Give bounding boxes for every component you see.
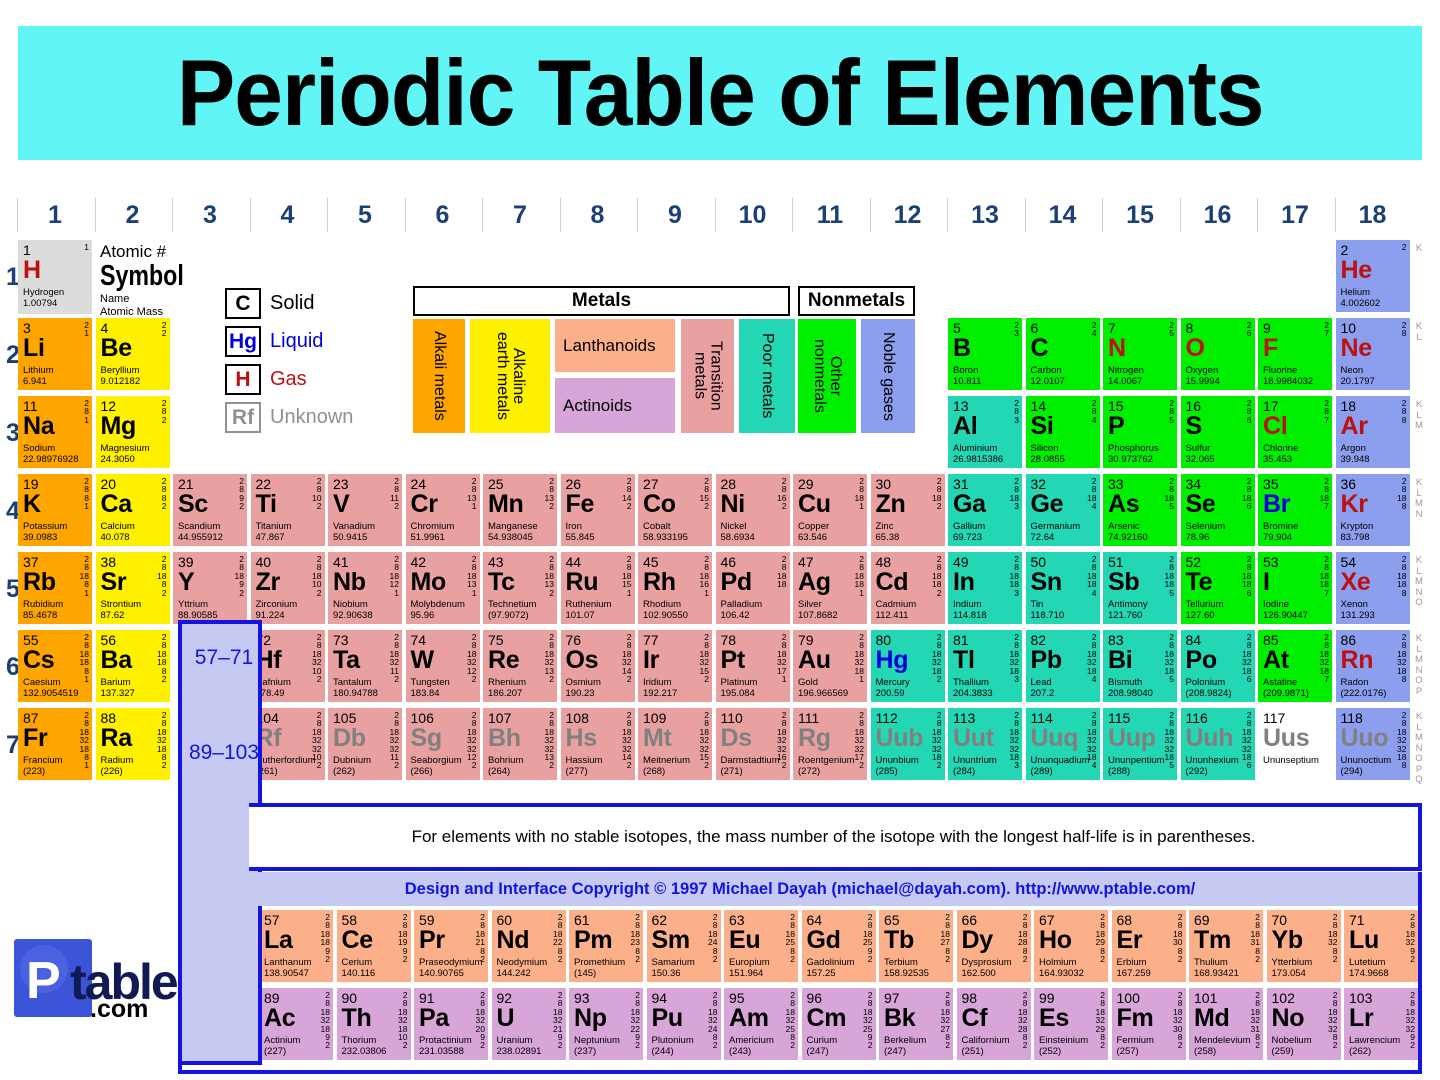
electron-shells: 2818321882 (157, 711, 166, 770)
element-name: Tin (1031, 599, 1096, 610)
element-cell-eu[interactable]: 63EuEuropium151.96428182582 (724, 910, 798, 982)
element-name: Praseodymium (419, 957, 484, 968)
element-name: Meitnerium (643, 755, 708, 766)
atomic-mass: 138.90547 (264, 968, 329, 979)
element-name: Californium (962, 1035, 1027, 1046)
element-cell-uuq[interactable]: 114UuqUnunquadium(289)28183232184 (1026, 708, 1100, 780)
atomic-mass: (284) (953, 766, 1018, 777)
electron-shells: 2818322592 (863, 991, 872, 1050)
legend-alkali-metals[interactable]: Alkali metals (413, 319, 465, 433)
atomic-mass: 51.9961 (411, 532, 476, 543)
element-symbol: Uus (1263, 726, 1328, 751)
electron-shells: 2818184 (1087, 555, 1096, 597)
atomic-number: 54 (1341, 555, 1406, 569)
element-name: Magnesium (101, 443, 166, 454)
atomic-number: 104 (256, 711, 321, 725)
atomic-mass: 32.065 (1186, 454, 1251, 465)
atomic-mass: (262) (333, 766, 398, 777)
atomic-number: 74 (411, 633, 476, 647)
electron-shells: 2818322982 (1096, 991, 1105, 1050)
atomic-number: 116 (1186, 711, 1251, 725)
element-cell-ge[interactable]: 32GeGermanium72.6428184 (1026, 474, 1100, 546)
element-cell-tm[interactable]: 69TmThulium168.9342128183182 (1189, 910, 1263, 982)
electron-shells: 281882 (157, 555, 166, 597)
element-cell-cs[interactable]: 55CsCaesium132.905451928181881 (18, 630, 92, 702)
atomic-number: 35 (1263, 477, 1328, 491)
electron-shells: 28183218102 (398, 991, 407, 1050)
atomic-mass: 118.710 (1031, 610, 1096, 621)
atomic-mass: 144.242 (497, 968, 562, 979)
atomic-number: 79 (798, 633, 863, 647)
element-cell-al[interactable]: 13AlAluminium26.9815386283 (948, 396, 1022, 468)
element-cell-sr[interactable]: 38SrStrontium87.62281882 (96, 552, 170, 624)
atomic-mass: 54.938045 (488, 532, 553, 543)
element-cell-sm[interactable]: 62SmSamarium150.3628182482 (647, 910, 721, 982)
element-symbol: Rh (643, 570, 708, 595)
element-symbol: Th (342, 1006, 407, 1031)
atomic-number: 87 (23, 711, 88, 725)
element-name: Boron (953, 365, 1018, 376)
legend-actinoids[interactable]: Actinoids (555, 378, 675, 433)
atomic-mass: (258) (1194, 1046, 1259, 1057)
element-cell-ra[interactable]: 88RaRadium(226)2818321882 (96, 708, 170, 780)
element-cell-cl[interactable]: 17ClChlorine35.453287 (1258, 396, 1332, 468)
element-cell-yb[interactable]: 70YbYtterbium173.05428183282 (1267, 910, 1341, 982)
atomic-number: 5 (953, 321, 1018, 335)
element-cell-co[interactable]: 27CoCobalt58.93319528152 (638, 474, 712, 546)
atomic-number: 6 (1031, 321, 1096, 335)
electron-shells: 28187 (1320, 477, 1329, 511)
element-cell-se[interactable]: 34SeSelenium78.9628186 (1181, 474, 1255, 546)
element-cell-c[interactable]: 6CCarbon12.010724 (1026, 318, 1100, 390)
element-cell-in[interactable]: 49InIndium114.8182818183 (948, 552, 1022, 624)
electron-shells: 2818323082 (1173, 991, 1182, 1050)
element-cell-u[interactable]: 92UUranium238.028912818322192 (492, 988, 566, 1060)
element-cell-dy[interactable]: 66DyDysprosium162.50028182882 (957, 910, 1031, 982)
element-cell-db[interactable]: 105DbDubnium(262)28183232112 (328, 708, 402, 780)
element-name: Helium (1341, 287, 1406, 298)
atomic-mass: 195.084 (721, 688, 786, 699)
electron-shells: 28181881 (80, 633, 89, 683)
element-symbol: Np (574, 1006, 639, 1031)
element-symbol: Uut (953, 726, 1018, 751)
element-cell-uus[interactable]: 117UusUnunseptium (1258, 708, 1332, 780)
element-name: Titanium (256, 521, 321, 532)
element-cell-w[interactable]: 74WTungsten183.84281832122 (406, 630, 480, 702)
group-number-13: 13 (947, 198, 1022, 232)
element-symbol: Dy (962, 928, 1027, 953)
element-symbol: P (1108, 414, 1173, 439)
element-name: Krypton (1341, 521, 1406, 532)
atomic-number: 39 (178, 555, 243, 569)
electron-shells: 2818321892 (321, 991, 330, 1050)
element-cell-sc[interactable]: 21ScScandium44.9559122892 (173, 474, 247, 546)
electron-shells: 281832184 (1087, 633, 1096, 683)
element-name: Iron (566, 521, 631, 532)
electron-shells: 28182592 (863, 913, 872, 963)
element-name: Europium (729, 957, 794, 968)
element-cell-nb[interactable]: 41NbNiobium92.906382818121 (328, 552, 402, 624)
atomic-number: 98 (962, 991, 1027, 1005)
element-cell-ac[interactable]: 89AcActinium(227)2818321892 (259, 988, 333, 1060)
element-name: Mercury (876, 677, 941, 688)
element-cell-rh[interactable]: 45RhRhodium102.905502818161 (638, 552, 712, 624)
element-symbol: Al (953, 414, 1018, 439)
element-cell-ga[interactable]: 31GaGallium69.72328183 (948, 474, 1022, 546)
element-cell-hs[interactable]: 108HsHassium(277)28183232142 (561, 708, 635, 780)
element-cell-ni[interactable]: 28NiNickel58.693428162 (716, 474, 790, 546)
element-symbol: Gd (807, 928, 872, 953)
element-symbol: Ta (333, 648, 398, 673)
element-cell-sb[interactable]: 51SbAntimony121.7602818185 (1103, 552, 1177, 624)
atomic-number: 107 (488, 711, 553, 725)
atomic-number: 110 (721, 711, 786, 725)
element-symbol: Tb (884, 928, 949, 953)
element-symbol: B (953, 336, 1018, 361)
element-cell-uub[interactable]: 112UubUnunbium(285)28183232182 (871, 708, 945, 780)
element-cell-mg[interactable]: 12MgMagnesium24.3050282 (96, 396, 170, 468)
element-cell-fr[interactable]: 87FrFrancium(223)2818321881 (18, 708, 92, 780)
element-name: Barium (101, 677, 166, 688)
element-cell-h[interactable]: 1HHydrogen1.007941 (18, 240, 92, 312)
element-cell-no[interactable]: 102NoNobelium(259)2818323282 (1267, 988, 1341, 1060)
atomic-number: 9 (1263, 321, 1328, 335)
element-cell-li[interactable]: 3LiLithium6.94121 (18, 318, 92, 390)
shell-letters-period-6: KLMNOP (1410, 634, 1428, 697)
atomic-mass: 121.760 (1108, 610, 1173, 621)
element-symbol: Ti (256, 492, 321, 517)
element-symbol: Uuo (1341, 726, 1406, 751)
element-cell-am[interactable]: 95AmAmericium(243)2818322582 (724, 988, 798, 1060)
element-name: Iodine (1263, 599, 1328, 610)
element-cell-si[interactable]: 14SiSilicon28.0855284 (1026, 396, 1100, 468)
atomic-mass: 95.96 (411, 610, 476, 621)
atomic-number: 84 (1186, 633, 1251, 647)
key-labels: Atomic # Symbol Name Atomic Mass (100, 242, 190, 319)
element-name: Berkelium (884, 1035, 949, 1046)
electron-shells: 2892 (239, 477, 244, 511)
electron-shells: 281832181 (855, 633, 864, 683)
element-cell-ba[interactable]: 56BaBarium137.32728181882 (96, 630, 170, 702)
electron-shells: 28183232132 (545, 711, 554, 770)
element-cell-th[interactable]: 90ThThorium232.0380628183218102 (337, 988, 411, 1060)
electron-shells: 28183292 (1406, 913, 1415, 963)
atomic-mass: 26.9815386 (953, 454, 1018, 465)
element-cell-ru[interactable]: 44RuRuthenium101.072818151 (561, 552, 635, 624)
legend-transition-metals[interactable]: Transitionmetals (681, 319, 734, 433)
element-symbol: Si (1031, 414, 1096, 439)
atomic-mass: 174.9668 (1349, 968, 1414, 979)
element-symbol: Na (23, 414, 88, 439)
atomic-mass: (145) (574, 968, 639, 979)
element-cell-rg[interactable]: 111RgRoentgenium(272)28183232172 (793, 708, 867, 780)
element-cell-po[interactable]: 84PoPolonium(208.9824)281832186 (1181, 630, 1255, 702)
element-symbol: Pb (1031, 648, 1096, 673)
element-cell-ca[interactable]: 20CaCalcium40.0782882 (96, 474, 170, 546)
element-symbol: Db (333, 726, 398, 751)
element-symbol: Rn (1341, 648, 1406, 673)
electron-shells: 28142 (622, 477, 631, 511)
atomic-mass: 30.973762 (1108, 454, 1173, 465)
element-cell-mo[interactable]: 42MoMolybdenum95.962818131 (406, 552, 480, 624)
shell-letters-period-5: KLMNO (1410, 556, 1428, 609)
element-cell-rn[interactable]: 86RnRadon(222.0176)281832188 (1336, 630, 1410, 702)
element-cell-pb[interactable]: 82PbLead207.2281832184 (1026, 630, 1100, 702)
atomic-mass: 162.500 (962, 968, 1027, 979)
element-cell-tl[interactable]: 81TlThallium204.3833281832183 (948, 630, 1022, 702)
state-label-gas: Gas (270, 368, 307, 391)
shell-letters-period-1: K (1410, 244, 1428, 255)
atomic-number: 80 (876, 633, 941, 647)
element-cell-s[interactable]: 16SSulfur32.065286 (1181, 396, 1255, 468)
element-name: Copper (798, 521, 863, 532)
element-name: Technetium (488, 599, 553, 610)
legend-noble-gases[interactable]: Noble gases (861, 319, 915, 433)
element-symbol: Er (1117, 928, 1182, 953)
electron-shells: 2818151 (622, 555, 631, 597)
element-cell-mt[interactable]: 109MtMeitnerium(268)28183232152 (638, 708, 712, 780)
element-name: Gold (798, 677, 863, 688)
copyright-notice[interactable]: Design and Interface Copyright © 1997 Mi… (178, 872, 1422, 906)
element-symbol: Zn (876, 492, 941, 517)
lanthanoid-range-label: 57–71 (182, 646, 266, 670)
element-cell-ag[interactable]: 47AgSilver107.86822818181 (793, 552, 867, 624)
element-cell-re[interactable]: 75ReRhenium186.207281832132 (483, 630, 557, 702)
atomic-number: 117 (1263, 711, 1328, 725)
element-cell-hg[interactable]: 80HgMercury200.59281832182 (871, 630, 945, 702)
element-cell-sg[interactable]: 106SgSeaborgium(266)28183232122 (406, 708, 480, 780)
element-cell-bh[interactable]: 107BhBohrium(264)28183232132 (483, 708, 557, 780)
element-name: Radium (101, 755, 166, 766)
element-cell-b[interactable]: 5BBoron10.81123 (948, 318, 1022, 390)
element-cell-nd[interactable]: 60NdNeodymium144.24228182282 (492, 910, 566, 982)
legend-lanthanoids[interactable]: Lanthanoids (555, 319, 675, 372)
element-name: Actinium (264, 1035, 329, 1046)
element-cell-pd[interactable]: 46PdPalladium106.42281818 (716, 552, 790, 624)
element-symbol: Xe (1341, 570, 1406, 595)
element-name: Mendelevium (1194, 1035, 1259, 1046)
element-cell-pr[interactable]: 59PrPraseodymium140.9076528182182 (414, 910, 488, 982)
element-name: Bromine (1263, 521, 1328, 532)
electron-shells: 281832182 (932, 633, 941, 683)
element-cell-cu[interactable]: 29CuCopper63.54628181 (793, 474, 867, 546)
element-symbol: H (23, 258, 88, 283)
element-cell-cm[interactable]: 96CmCurium(247)2818322592 (802, 988, 876, 1060)
atomic-mass: 74.92160 (1108, 532, 1173, 543)
element-symbol: O (1186, 336, 1251, 361)
atomic-number: 113 (953, 711, 1018, 725)
element-cell-kr[interactable]: 36KrKrypton83.79828188 (1336, 474, 1410, 546)
electron-shells: 28181992 (398, 913, 407, 963)
element-cell-k[interactable]: 19KPotassium39.09832881 (18, 474, 92, 546)
element-cell-uup[interactable]: 115UupUnunpentium(288)28183232185 (1103, 708, 1177, 780)
element-cell-ho[interactable]: 67HoHolmium164.9303228182982 (1034, 910, 1108, 982)
element-cell-na[interactable]: 11NaSodium22.98976928281 (18, 396, 92, 468)
element-cell-es[interactable]: 99EsEinsteinium(252)2818322982 (1034, 988, 1108, 1060)
element-cell-md[interactable]: 101MdMendelevium(258)2818323182 (1189, 988, 1263, 1060)
electron-shells: 28182782 (941, 913, 950, 963)
element-name: Radon (1341, 677, 1406, 688)
electron-shells: 28183232184 (1087, 711, 1096, 770)
element-cell-ti[interactable]: 22TiTitanium47.86728102 (251, 474, 325, 546)
element-cell-er[interactable]: 68ErErbium167.25928183082 (1112, 910, 1186, 982)
group-number-10: 10 (715, 198, 790, 232)
element-name: Thulium (1194, 957, 1259, 968)
atomic-mass: 140.90765 (419, 968, 484, 979)
group-number-4: 4 (250, 198, 325, 232)
atomic-number: 61 (574, 913, 639, 927)
element-cell-mn[interactable]: 25MnManganese54.93804528132 (483, 474, 557, 546)
element-name: Iridium (643, 677, 708, 688)
element-cell-ce[interactable]: 58CeCerium140.11628181992 (337, 910, 411, 982)
element-symbol: Lr (1349, 1006, 1414, 1031)
element-cell-fm[interactable]: 100FmFermium(257)2818323082 (1112, 988, 1186, 1060)
element-cell-pa[interactable]: 91PaProtactinium231.035882818322092 (414, 988, 488, 1060)
element-symbol: Cr (411, 492, 476, 517)
atomic-mass: 127.60 (1186, 610, 1251, 621)
atomic-number: 95 (729, 991, 794, 1005)
atomic-mass: 178.49 (256, 688, 321, 699)
legend-other-nonmetals[interactable]: Othernonmetals (798, 319, 856, 433)
page-title: Periodic Table of Elements (177, 39, 1264, 147)
element-cell-ir[interactable]: 77IrIridium192.217281832152 (638, 630, 712, 702)
atomic-number: 78 (721, 633, 786, 647)
element-cell-lu[interactable]: 71LuLutetium174.966828183292 (1344, 910, 1418, 982)
element-cell-uuo[interactable]: 118UuoUnunoctium(294)28183232188 (1336, 708, 1410, 780)
element-cell-pt[interactable]: 78PtPlatinum195.084281832171 (716, 630, 790, 702)
legend-alkaline-earth-metals[interactable]: Alkalineearth metals (470, 319, 550, 433)
atomic-mass: 58.6934 (721, 532, 786, 543)
element-cell-xe[interactable]: 54XeXenon131.2932818188 (1336, 552, 1410, 624)
element-cell-bk[interactable]: 97BkBerkelium(247)2818322782 (879, 988, 953, 1060)
atomic-number: 89 (264, 991, 329, 1005)
element-cell-rb[interactable]: 37RbRubidium85.4678281881 (18, 552, 92, 624)
atomic-mass: 180.94788 (333, 688, 398, 699)
logo-p-letter: P (26, 955, 61, 1007)
atomic-number: 36 (1341, 477, 1406, 491)
element-cell-tc[interactable]: 43TcTechnetium(97.9072)2818132 (483, 552, 557, 624)
atomic-mass: (277) (566, 766, 631, 777)
element-cell-cf[interactable]: 98CfCalifornium(251)2818322882 (957, 988, 1031, 1060)
element-cell-n[interactable]: 7NNitrogen14.006725 (1103, 318, 1177, 390)
element-name: Arsenic (1108, 521, 1173, 532)
atomic-mass: 173.054 (1272, 968, 1337, 979)
element-cell-ar[interactable]: 18ArArgon39.948288 (1336, 396, 1410, 468)
atomic-number: 109 (643, 711, 708, 725)
element-cell-at[interactable]: 85AtAstatine(209.9871)281832187 (1258, 630, 1332, 702)
atomic-mass: (226) (101, 766, 166, 777)
atomic-number: 26 (566, 477, 631, 491)
atomic-mass: 18.9984032 (1263, 376, 1328, 387)
element-cell-ds[interactable]: 110DsDarmstadtium(271)28183232162 (716, 708, 790, 780)
ptable-logo[interactable]: P table .com (14, 935, 174, 1035)
electron-shells: 281832152 (700, 633, 709, 683)
element-cell-p[interactable]: 15PPhosphorus30.973762285 (1103, 396, 1177, 468)
electron-shells: 2818322782 (941, 991, 950, 1050)
element-cell-f[interactable]: 9FFluorine18.998403227 (1258, 318, 1332, 390)
element-cell-au[interactable]: 79AuGold196.966569281832181 (793, 630, 867, 702)
atomic-number: 82 (1031, 633, 1096, 647)
atomic-mass: 9.012182 (101, 376, 166, 387)
element-cell-cd[interactable]: 48CdCadmium112.4112818182 (871, 552, 945, 624)
element-name: Hafnium (256, 677, 321, 688)
element-cell-v[interactable]: 23VVanadium50.941528112 (328, 474, 402, 546)
atomic-number: 67 (1039, 913, 1104, 927)
atomic-number: 115 (1108, 711, 1173, 725)
electron-shells: 28182382 (631, 913, 640, 963)
element-cell-zn[interactable]: 30ZnZinc65.3828182 (871, 474, 945, 546)
electron-shells: 282 (162, 399, 167, 424)
key-name-label: Name (100, 293, 190, 306)
element-cell-cr[interactable]: 24CrChromium51.996128131 (406, 474, 480, 546)
element-cell-br[interactable]: 35BrBromine79.90428187 (1258, 474, 1332, 546)
legend-poor-metals[interactable]: Poor metals (739, 319, 795, 433)
element-cell-zr[interactable]: 40ZrZirconium91.2242818102 (251, 552, 325, 624)
element-cell-i[interactable]: 53IIodine126.904472818187 (1258, 552, 1332, 624)
element-cell-ne[interactable]: 10NeNeon20.179728 (1336, 318, 1410, 390)
element-cell-gd[interactable]: 64GdGadolinium157.2528182592 (802, 910, 876, 982)
element-name: Ununquadium (1031, 755, 1096, 766)
element-name: Ununbium (876, 755, 941, 766)
element-name: Oxygen (1186, 365, 1251, 376)
atomic-mass: 92.90638 (333, 610, 398, 621)
element-symbol: Ho (1039, 928, 1104, 953)
element-symbol: At (1263, 648, 1328, 673)
atomic-mass: 114.818 (953, 610, 1018, 621)
element-name: Sodium (23, 443, 88, 454)
atomic-number: 96 (807, 991, 872, 1005)
element-name: Roentgenium (798, 755, 863, 766)
element-symbol: Kr (1341, 492, 1406, 517)
element-cell-la[interactable]: 57LaLanthanum138.9054728181892 (259, 910, 333, 982)
element-cell-he[interactable]: 2HeHelium4.0026022 (1336, 240, 1410, 312)
element-cell-pu[interactable]: 94PuPlutonium(244)2818322482 (647, 988, 721, 1060)
element-cell-tb[interactable]: 65TbTerbium158.9253528182782 (879, 910, 953, 982)
element-cell-ta[interactable]: 73TaTantalum180.94788281832112 (328, 630, 402, 702)
element-cell-o[interactable]: 8OOxygen15.999426 (1181, 318, 1255, 390)
electron-shells: 28183232112 (390, 711, 399, 770)
element-cell-pm[interactable]: 61PmPromethium(145)28182382 (569, 910, 643, 982)
element-cell-os[interactable]: 76OsOsmium190.23281832142 (561, 630, 635, 702)
element-name: Einsteinium (1039, 1035, 1104, 1046)
element-cell-bi[interactable]: 83BiBismuth208.98040281832185 (1103, 630, 1177, 702)
electron-shells: 281832122 (467, 633, 476, 683)
element-cell-fe[interactable]: 26FeIron55.84528142 (561, 474, 635, 546)
element-symbol: Hg (876, 648, 941, 673)
element-name: Chromium (411, 521, 476, 532)
element-cell-te[interactable]: 52TeTellurium127.602818186 (1181, 552, 1255, 624)
atomic-number: 97 (884, 991, 949, 1005)
element-cell-be[interactable]: 4BeBeryllium9.01218222 (96, 318, 170, 390)
element-cell-np[interactable]: 93NpNeptunium(237)2818322292 (569, 988, 643, 1060)
electron-shells: 281832185 (1165, 633, 1174, 683)
element-cell-sn[interactable]: 50SnTin118.7102818184 (1026, 552, 1100, 624)
element-cell-uut[interactable]: 113UutUnuntrium(284)28183232183 (948, 708, 1022, 780)
element-symbol: Ra (101, 726, 166, 751)
element-name: Niobium (333, 599, 398, 610)
element-cell-y[interactable]: 39YYttrium88.90585281892 (173, 552, 247, 624)
element-name: Neon (1341, 365, 1406, 376)
atomic-mass: 231.03588 (419, 1046, 484, 1057)
state-symbol-liquid: Hg (225, 326, 261, 357)
element-cell-lr[interactable]: 103LrLawrencium(262)2818323292 (1344, 988, 1418, 1060)
element-cell-uuh[interactable]: 116UuhUnunhexium(292)28183232186 (1181, 708, 1255, 780)
element-symbol: Cs (23, 648, 88, 673)
element-symbol: Es (1039, 1006, 1104, 1031)
element-cell-as[interactable]: 33AsArsenic74.9216028185 (1103, 474, 1177, 546)
element-name: Lawrencium (1349, 1035, 1414, 1046)
atomic-number: 81 (953, 633, 1018, 647)
